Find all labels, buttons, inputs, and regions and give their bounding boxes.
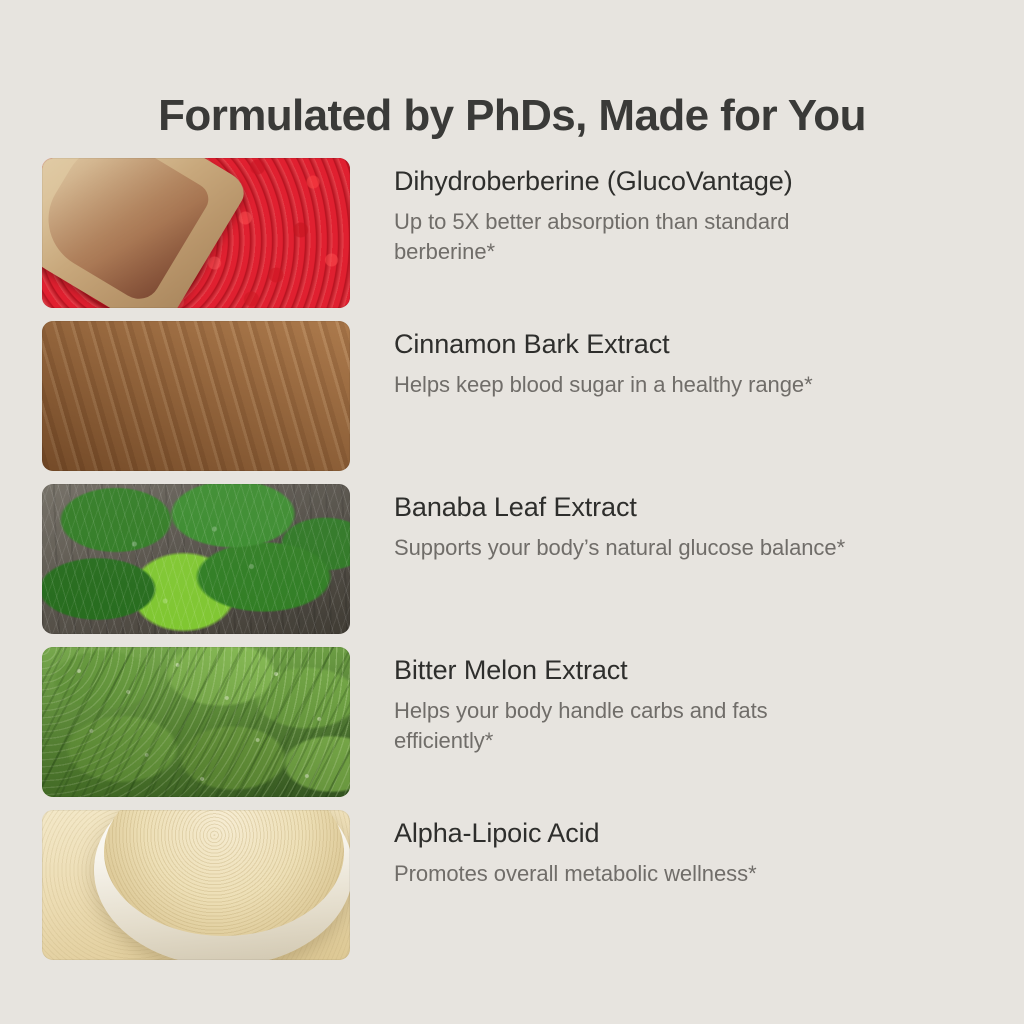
ingredient-text-2: Banaba Leaf Extract Supports your body’s… [394, 484, 982, 563]
ingredient-text-1: Cinnamon Bark Extract Helps keep blood s… [394, 321, 982, 400]
ingredient-name: Alpha-Lipoic Acid [394, 818, 982, 849]
ingredient-row: Alpha-Lipoic Acid Promotes overall metab… [42, 810, 982, 960]
ingredient-list: Dihydroberberine (GlucoVantage) Up to 5X… [42, 158, 982, 973]
ingredient-row: Cinnamon Bark Extract Helps keep blood s… [42, 321, 982, 471]
bitter-melon-gourds-photo [42, 647, 350, 797]
banaba-leaves-photo [42, 484, 350, 634]
barberries-with-wooden-scoop-photo [42, 158, 350, 308]
ingredient-name: Bitter Melon Extract [394, 655, 982, 686]
cinnamon-bark-sticks-photo [42, 321, 350, 471]
ingredient-name: Cinnamon Bark Extract [394, 329, 982, 360]
ingredient-image-1 [42, 321, 350, 471]
ingredient-name: Dihydroberberine (GlucoVantage) [394, 166, 982, 197]
ingredient-row: Dihydroberberine (GlucoVantage) Up to 5X… [42, 158, 982, 308]
ingredient-name: Banaba Leaf Extract [394, 492, 982, 523]
ingredient-text-0: Dihydroberberine (GlucoVantage) Up to 5X… [394, 158, 982, 266]
ingredient-description: Helps keep blood sugar in a healthy rang… [394, 370, 864, 399]
alpha-lipoic-acid-powder-bowl-photo [42, 810, 350, 960]
ingredient-text-3: Bitter Melon Extract Helps your body han… [394, 647, 982, 755]
ingredient-text-4: Alpha-Lipoic Acid Promotes overall metab… [394, 810, 982, 889]
ingredient-row: Banaba Leaf Extract Supports your body’s… [42, 484, 982, 634]
ingredient-image-4 [42, 810, 350, 960]
ingredient-image-0 [42, 158, 350, 308]
ingredient-description: Helps your body handle carbs and fats ef… [394, 696, 864, 755]
ingredient-row: Bitter Melon Extract Helps your body han… [42, 647, 982, 797]
ingredient-infographic-page: Formulated by PhDs, Made for You Dihydro… [0, 0, 1024, 1024]
ingredient-image-3 [42, 647, 350, 797]
ingredient-description: Up to 5X better absorption than standard… [394, 207, 864, 266]
ingredient-description: Promotes overall metabolic wellness* [394, 859, 864, 888]
page-title: Formulated by PhDs, Made for You [0, 91, 1024, 141]
ingredient-image-2 [42, 484, 350, 634]
ingredient-description: Supports your body’s natural glucose bal… [394, 533, 864, 562]
